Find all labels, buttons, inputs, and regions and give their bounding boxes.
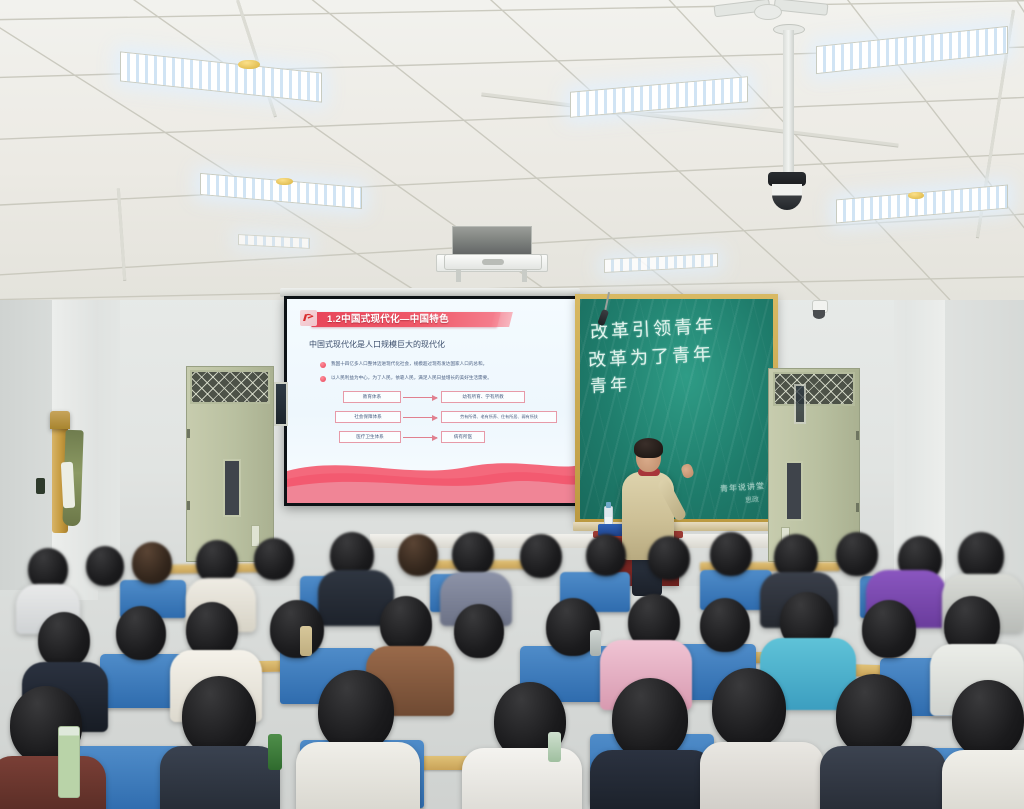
flow-left-box: 教育体系: [343, 391, 401, 403]
flow-left-box: 医疗卫生体系: [339, 431, 401, 443]
student-body: [942, 750, 1024, 809]
student-head: [270, 600, 324, 658]
student-head: [586, 534, 626, 576]
water-bottle: [548, 732, 561, 762]
student-head: [958, 532, 1004, 580]
student-head: [454, 604, 504, 658]
student-head: [648, 536, 690, 580]
student-head: [710, 532, 752, 576]
wall-poster: [794, 384, 806, 424]
student-body: [296, 742, 420, 809]
ceiling-fan: [718, 0, 816, 22]
flow-arrow-icon: [403, 397, 437, 398]
door-vision-panel: [223, 459, 241, 517]
blackboard-corner-text: 青年说讲堂: [720, 480, 766, 494]
blackboard-line: 改革为了青年: [587, 340, 714, 373]
flow-left-box: 社会保障体系: [335, 411, 401, 423]
student-body: [820, 746, 946, 809]
student-head: [132, 542, 172, 584]
flow-arrow-icon: [403, 417, 437, 418]
student-head: [254, 538, 294, 580]
student-head: [700, 598, 750, 652]
water-bottle: [590, 630, 601, 656]
blackboard-line: 改革引领青年: [589, 312, 716, 345]
smoke-detector-icon: [238, 60, 260, 69]
student-body: [700, 742, 824, 809]
student-head: [38, 612, 90, 668]
student-head: [398, 534, 438, 576]
cpc-emblem-icon: [300, 310, 317, 326]
slide-bullet: 我国十四亿多人口整体迈进现代化社会，规模超过现有发达国家人口的总和。: [331, 361, 487, 367]
student-head: [612, 678, 688, 760]
student-body: [160, 746, 280, 809]
door-transom-window: [190, 370, 269, 404]
blackboard-corner-text-2: 思政: [745, 494, 760, 505]
door-transom-window: [773, 372, 856, 406]
bullet-dot-icon: [320, 376, 326, 382]
audience-area: [0, 520, 1024, 809]
flow-right-box: 病有所医: [441, 431, 485, 443]
slide-title: 1.2中国式现代化—中国特色: [327, 313, 507, 327]
student-body: [590, 750, 714, 809]
student-head: [86, 546, 124, 586]
student-head: [318, 670, 394, 752]
student-head: [452, 532, 494, 576]
student-head: [520, 534, 562, 578]
student-head: [712, 668, 786, 748]
student-body: [0, 756, 106, 809]
smoke-detector-icon: [276, 178, 293, 185]
student-head: [380, 596, 432, 652]
slide-bullet: 以人民利益为中心，为了人民，依靠人民，满足人民日益增长的美好生活需要。: [331, 375, 492, 381]
blackboard-line: 青年: [589, 370, 630, 397]
student-head: [836, 532, 878, 576]
water-bottle: [300, 626, 312, 656]
bullet-dot-icon: [320, 362, 326, 368]
presentation-slide: 1.2中国式现代化—中国特色 中国式现代化是人口规模巨大的现代化 我国十四亿多人…: [287, 299, 579, 503]
student-head: [836, 674, 912, 756]
projection-screen[interactable]: 1.2中国式现代化—中国特色 中国式现代化是人口规模巨大的现代化 我国十四亿多人…: [284, 296, 582, 506]
student-body: [462, 748, 582, 809]
slide-subtitle: 中国式现代化是人口规模巨大的现代化: [309, 339, 445, 350]
flow-arrow-icon: [403, 437, 437, 438]
classroom-scene: 1.2中国式现代化—中国特色 中国式现代化是人口规模巨大的现代化 我国十四亿多人…: [0, 0, 1024, 809]
water-bottle: [268, 734, 282, 770]
student-head: [862, 600, 916, 658]
student-head: [116, 606, 166, 660]
teacher-hand: [680, 463, 695, 480]
flow-right-box: 幼有所育、学有所教: [441, 391, 525, 403]
wall-poster: [274, 382, 288, 426]
smoke-detector-icon: [908, 192, 924, 199]
teacher-hair: [634, 438, 663, 458]
projector-lens: [482, 259, 504, 265]
water-bottle: [58, 726, 80, 798]
flow-right-box: 劳有所得、老有所养、住有所居、弱有所扶: [441, 411, 557, 423]
door-vision-panel: [785, 461, 803, 521]
student-head: [182, 676, 256, 756]
white-cloth: [61, 462, 75, 509]
student-head: [952, 680, 1024, 758]
slide-wave-decoration: [287, 449, 579, 503]
light-switch[interactable]: [36, 478, 45, 494]
